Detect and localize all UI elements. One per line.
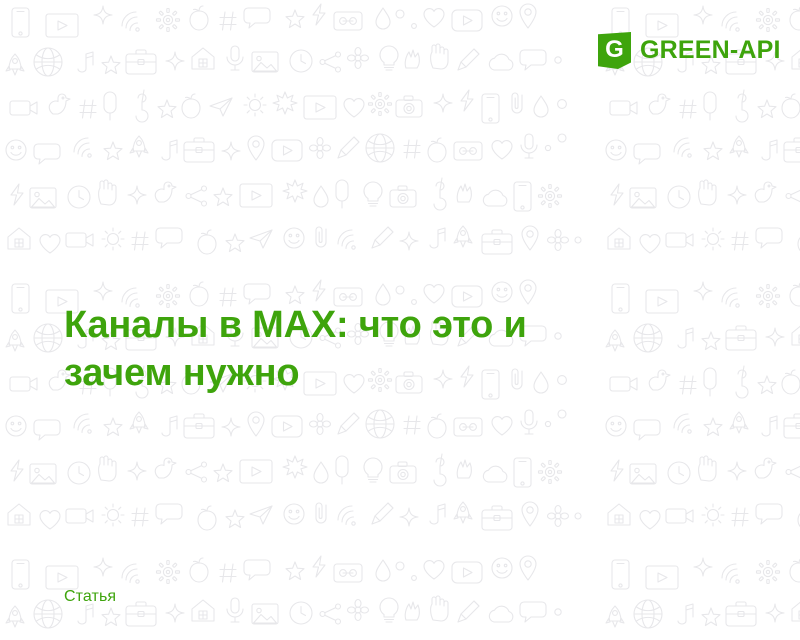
- page-title-line-1: Каналы в MAX: что это и: [64, 301, 684, 349]
- article-cover-card: G GREEN-API Каналы в MAX: что это и заче…: [0, 0, 800, 640]
- content-type-label: Статья: [64, 587, 116, 607]
- green-api-wordmark: GREEN-API: [640, 38, 781, 63]
- green-api-logo-letter: G: [598, 32, 631, 69]
- page-title-line-2: зачем нужно: [64, 349, 684, 397]
- page-title: Каналы в MAX: что это и зачем нужно: [64, 301, 684, 397]
- green-api-logo-mark: G: [598, 32, 631, 69]
- green-api-logo[interactable]: G GREEN-API: [598, 32, 781, 69]
